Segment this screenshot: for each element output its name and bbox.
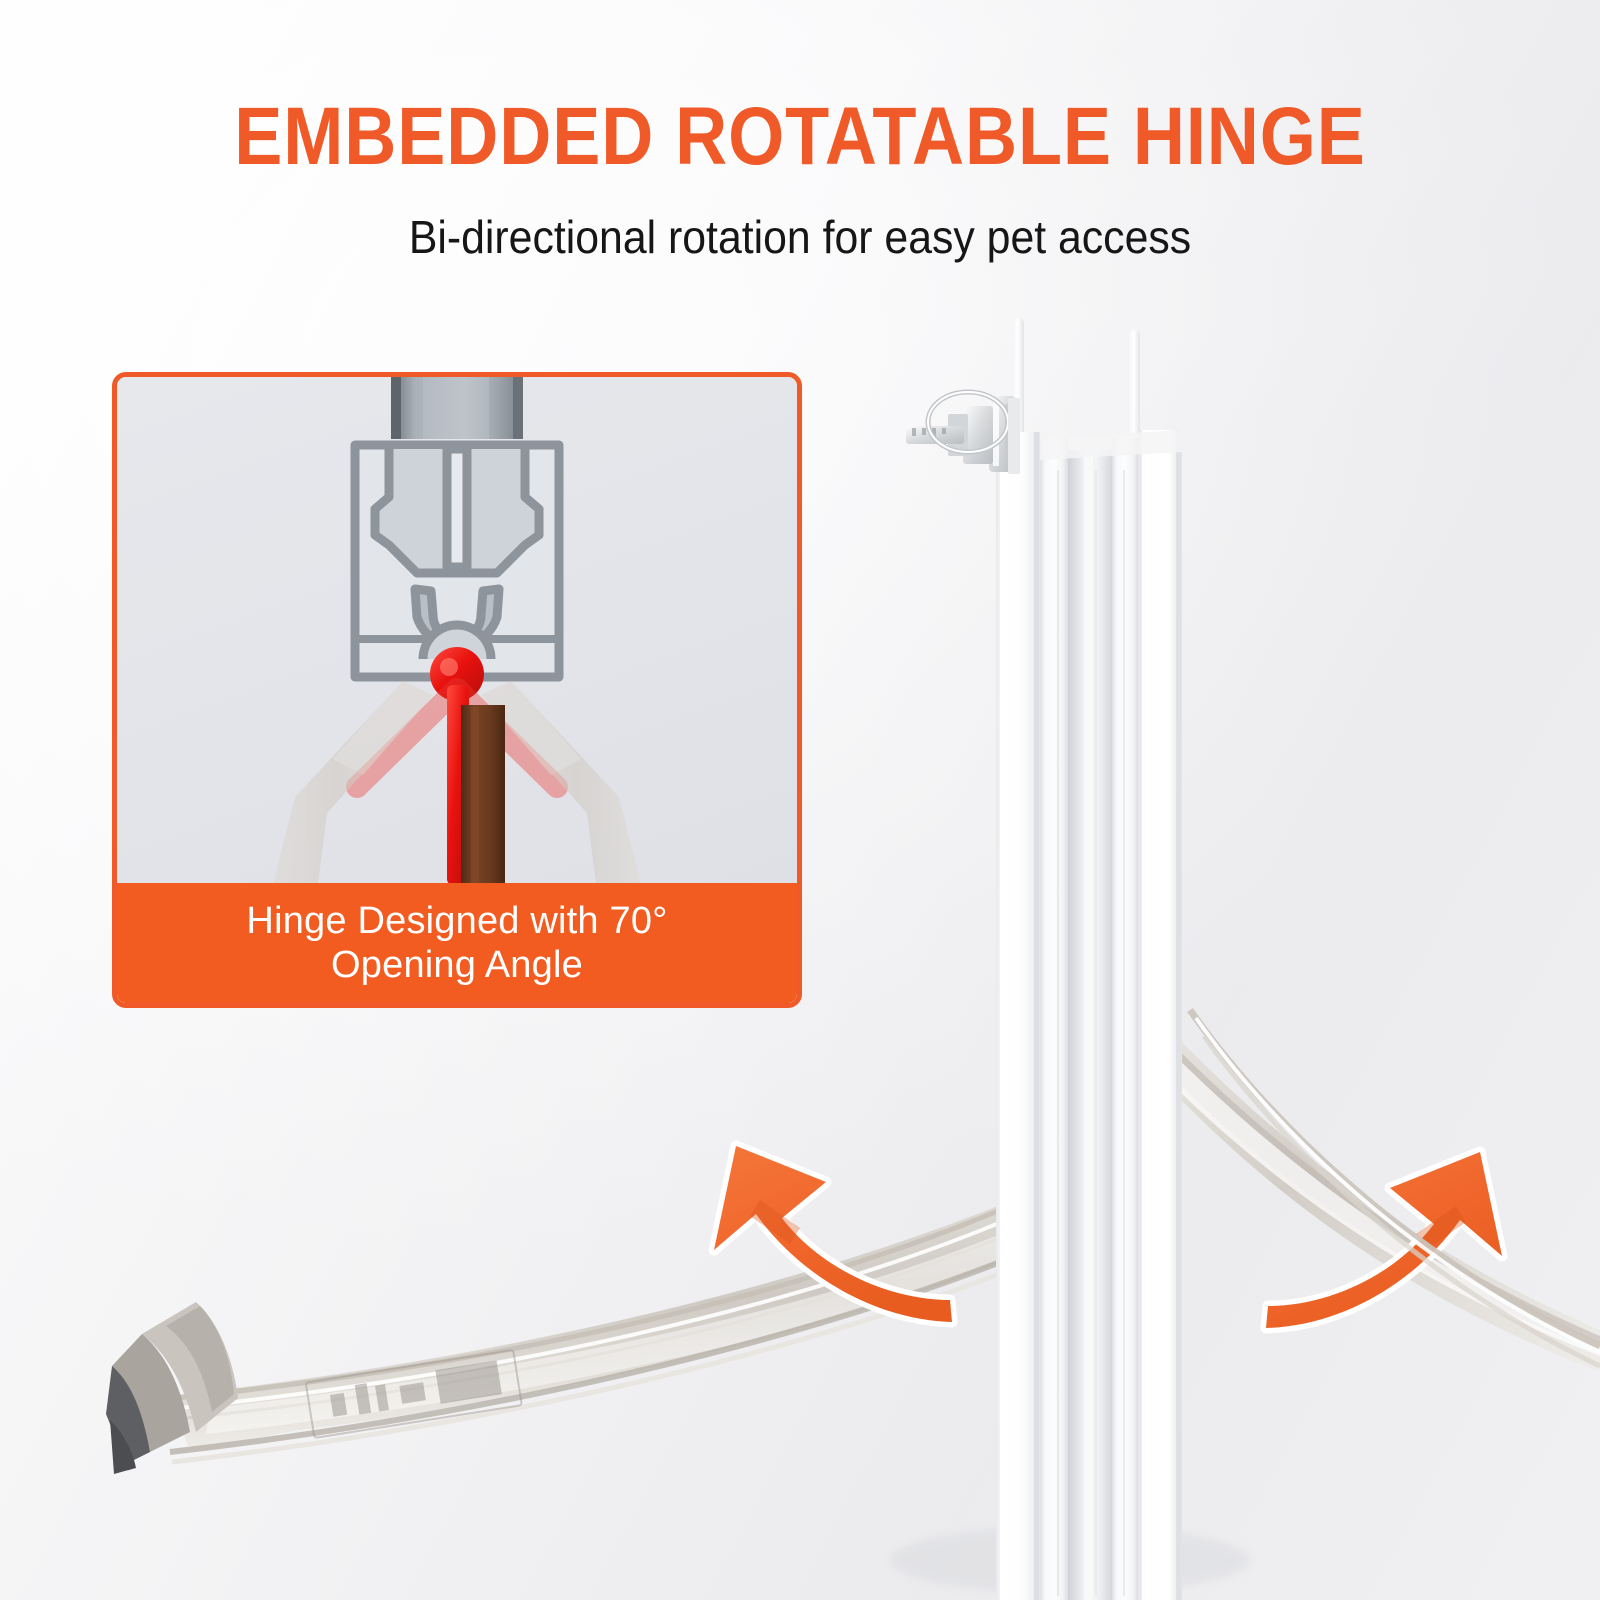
pet-door-frame [996,318,1182,1600]
diagram-caption: Hinge Designed with 70° Opening Angle [117,883,797,1003]
caption-line-1: Hinge Designed with 70° [246,899,667,943]
key-lock-cylinder [906,392,1020,474]
product-marketing-image: EMBEDDED ROTATABLE HINGE Bi-directional … [0,0,1600,1600]
diagram-upper-shaft [391,377,523,439]
hinge-diagram-panel: Hinge Designed with 70° Opening Angle [112,372,802,1008]
diagram-aluminium-profile [355,445,559,677]
page-subtitle: Bi-directional rotation for easy pet acc… [56,212,1544,263]
page-title: EMBEDDED ROTATABLE HINGE [96,96,1504,178]
caption-line-2: Opening Angle [246,943,667,987]
translucent-flap-left [106,1180,1072,1474]
